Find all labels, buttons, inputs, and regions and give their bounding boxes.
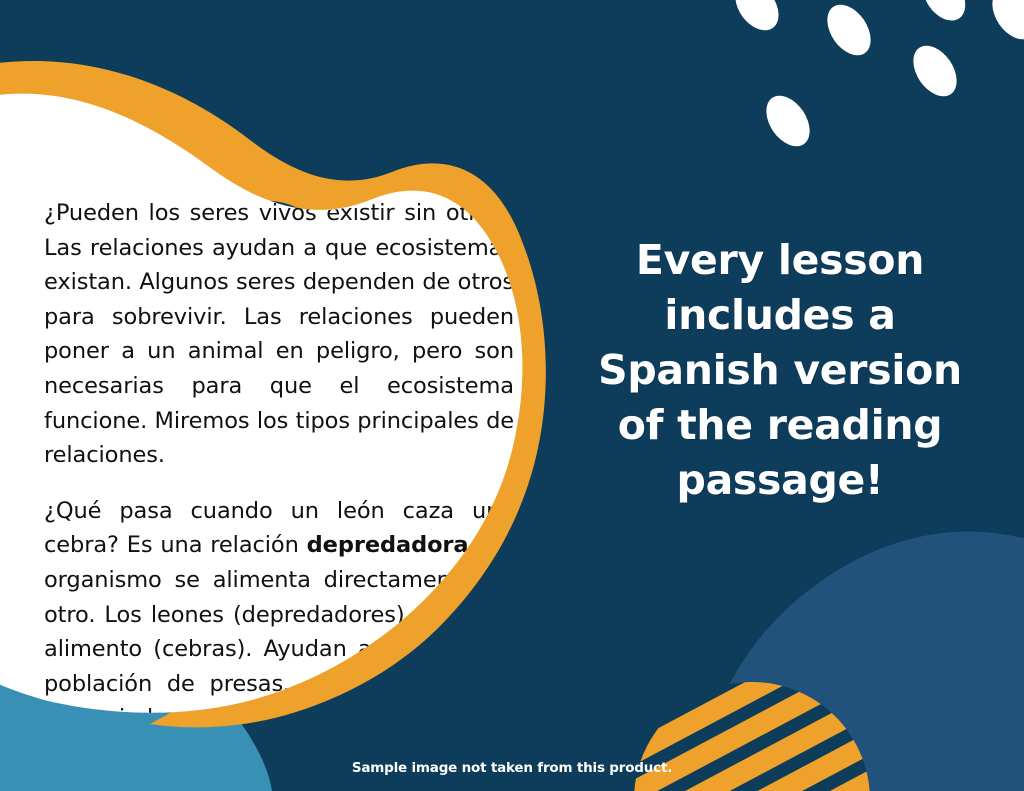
headline-line-2: includes a	[556, 288, 1004, 343]
passage-bold-term: depredadora	[307, 532, 469, 558]
headline-line-1: Every lesson	[556, 233, 1004, 288]
disclaimer-caption: Sample image not taken from this product…	[0, 760, 1024, 776]
slide-canvas: ¿Pueden los seres vivos existir sin otro…	[0, 0, 1024, 791]
passage-text-run: ¿Pueden los seres vivos existir sin otro…	[44, 200, 514, 468]
passage-paragraph-1: ¿Pueden los seres vivos existir sin otro…	[44, 196, 514, 473]
promo-headline: Every lesson includes a Spanish version …	[556, 233, 1004, 508]
headline-line-4: of the reading	[556, 398, 1004, 453]
headline-line-5: passage!	[556, 453, 1004, 508]
headline-line-3: Spanish version	[556, 343, 1004, 398]
